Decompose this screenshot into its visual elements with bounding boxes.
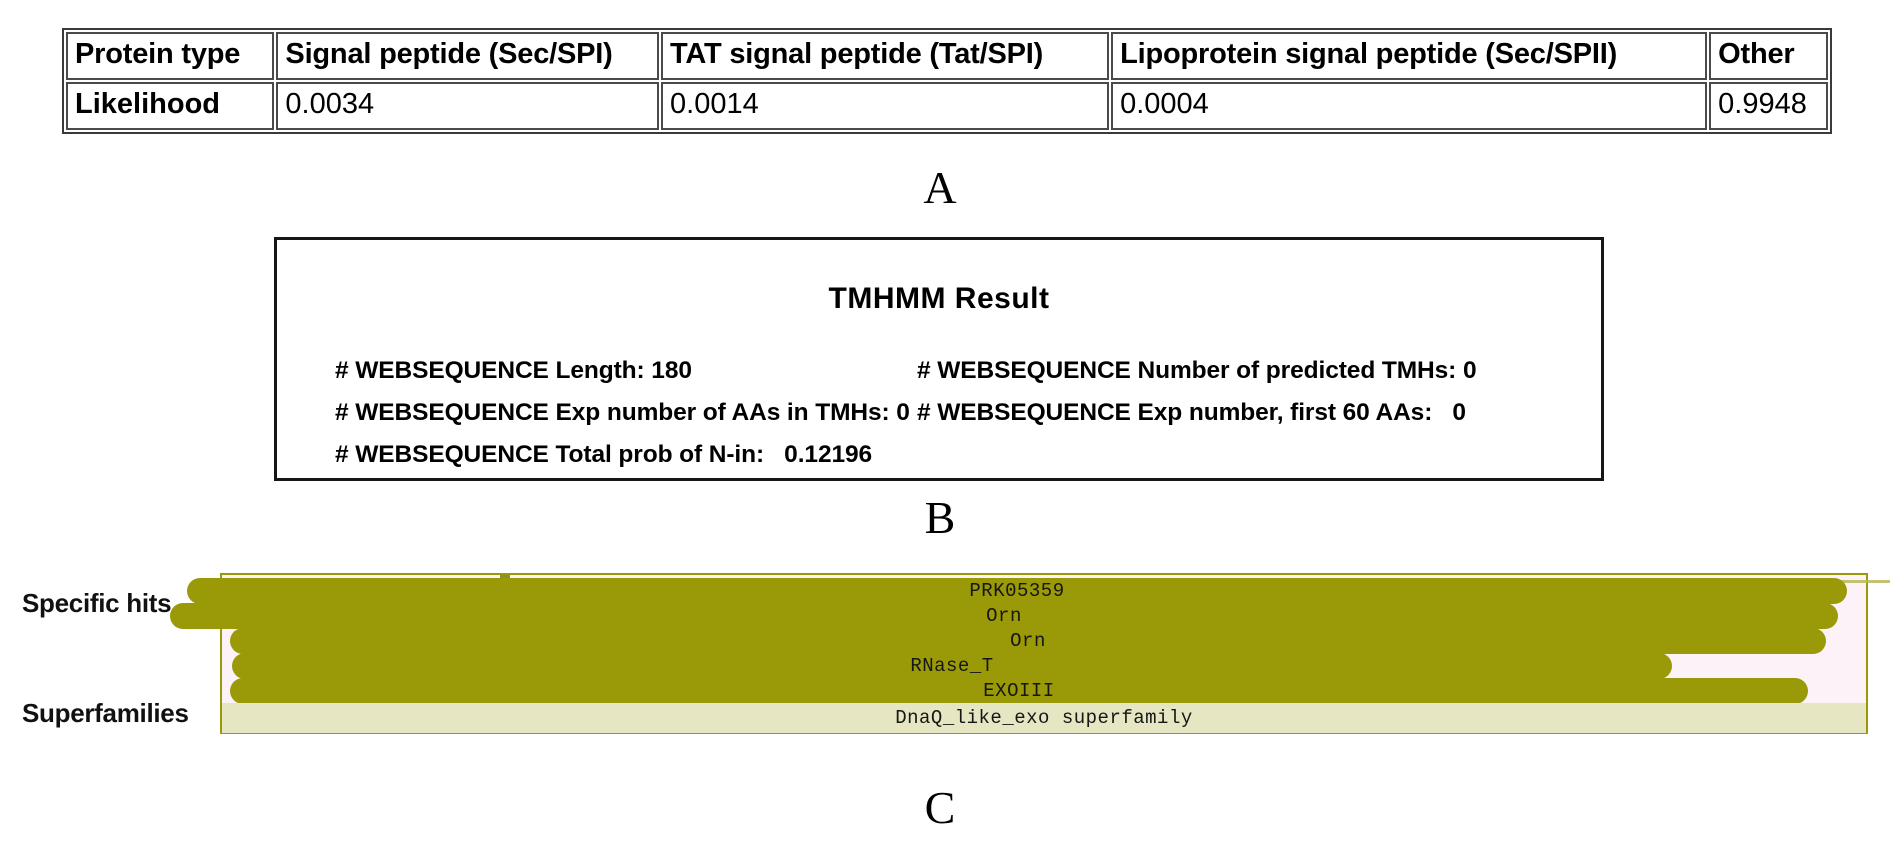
column-header-tat-spi: TAT signal peptide (Tat/SPI) (661, 32, 1109, 80)
signalp-likelihood-panel: Protein type Signal peptide (Sec/SPI) TA… (62, 28, 1832, 134)
table-row: Likelihood 0.0034 0.0014 0.0004 0.9948 (66, 82, 1828, 130)
value-tat-spi: 0.0014 (661, 82, 1109, 130)
value-other: 0.9948 (1709, 82, 1828, 130)
value-sec-spii: 0.0004 (1111, 82, 1707, 130)
domain-hit-label: Orn (1010, 630, 1046, 652)
tmhmm-total-prob-n-in: # WEBSEQUENCE Total prob of N-in: 0.1219… (277, 441, 897, 469)
domain-hit-band[interactable]: PRK05359 (187, 578, 1847, 604)
panel-label-a: A (880, 165, 1000, 211)
tmhmm-result-panel: TMHMM Result # WEBSEQUENCE Length: 180 #… (274, 237, 1604, 481)
domain-hit-band[interactable]: Orn (170, 603, 1838, 629)
superfamily-band[interactable]: DnaQ_like_exo superfamily (222, 703, 1866, 733)
column-header-other: Other (1709, 32, 1828, 80)
row-label-specific-hits: Specific hits (22, 588, 171, 619)
column-header-sec-spi: Signal peptide (Sec/SPI) (276, 32, 659, 80)
tmhmm-stats-grid: # WEBSEQUENCE Length: 180 # WEBSEQUENCE … (277, 350, 1601, 476)
domain-hit-label: Orn (986, 605, 1022, 627)
domain-hit-band[interactable]: EXOIII (230, 678, 1808, 704)
tmhmm-number-of-tmhs: # WEBSEQUENCE Number of predicted TMHs: … (897, 357, 1601, 385)
cdd-domain-hits-panel: Specific hits Superfamilies PRK05359OrnO… (0, 560, 1890, 775)
table-header-row: Protein type Signal peptide (Sec/SPI) TA… (66, 32, 1828, 80)
tmhmm-length: # WEBSEQUENCE Length: 180 (277, 357, 897, 385)
domain-hit-band[interactable]: Orn (230, 628, 1826, 654)
tmhmm-stats-row: # WEBSEQUENCE Exp number of AAs in TMHs:… (277, 392, 1601, 434)
tmhmm-stats-row: # WEBSEQUENCE Length: 180 # WEBSEQUENCE … (277, 350, 1601, 392)
tmhmm-stats-row: # WEBSEQUENCE Total prob of N-in: 0.1219… (277, 434, 1601, 476)
value-sec-spi: 0.0034 (276, 82, 659, 130)
row-label-likelihood: Likelihood (66, 82, 274, 130)
signalp-likelihood-table: Protein type Signal peptide (Sec/SPI) TA… (62, 28, 1832, 134)
row-label-superfamilies: Superfamilies (22, 698, 189, 729)
domain-hit-band[interactable]: RNase_T (232, 653, 1672, 679)
domain-hit-label: RNase_T (910, 655, 993, 677)
tmhmm-exp-first-60-aas: # WEBSEQUENCE Exp number, first 60 AAs: … (897, 399, 1601, 427)
column-header-protein-type: Protein type (66, 32, 274, 80)
domain-hit-label: EXOIII (983, 680, 1054, 702)
tmhmm-title: TMHMM Result (277, 282, 1601, 316)
tmhmm-exp-aas-in-tmhs: # WEBSEQUENCE Exp number of AAs in TMHs:… (277, 399, 897, 427)
superfamily-label: DnaQ_like_exo superfamily (895, 707, 1193, 729)
column-header-sec-spii: Lipoprotein signal peptide (Sec/SPII) (1111, 32, 1707, 80)
panel-label-b: B (880, 495, 1000, 541)
panel-label-c: C (880, 785, 1000, 831)
domain-hit-label: PRK05359 (969, 580, 1064, 602)
cdd-graphic-canvas: PRK05359OrnOrnRNase_TEXOIII DnaQ_like_ex… (220, 573, 1868, 734)
